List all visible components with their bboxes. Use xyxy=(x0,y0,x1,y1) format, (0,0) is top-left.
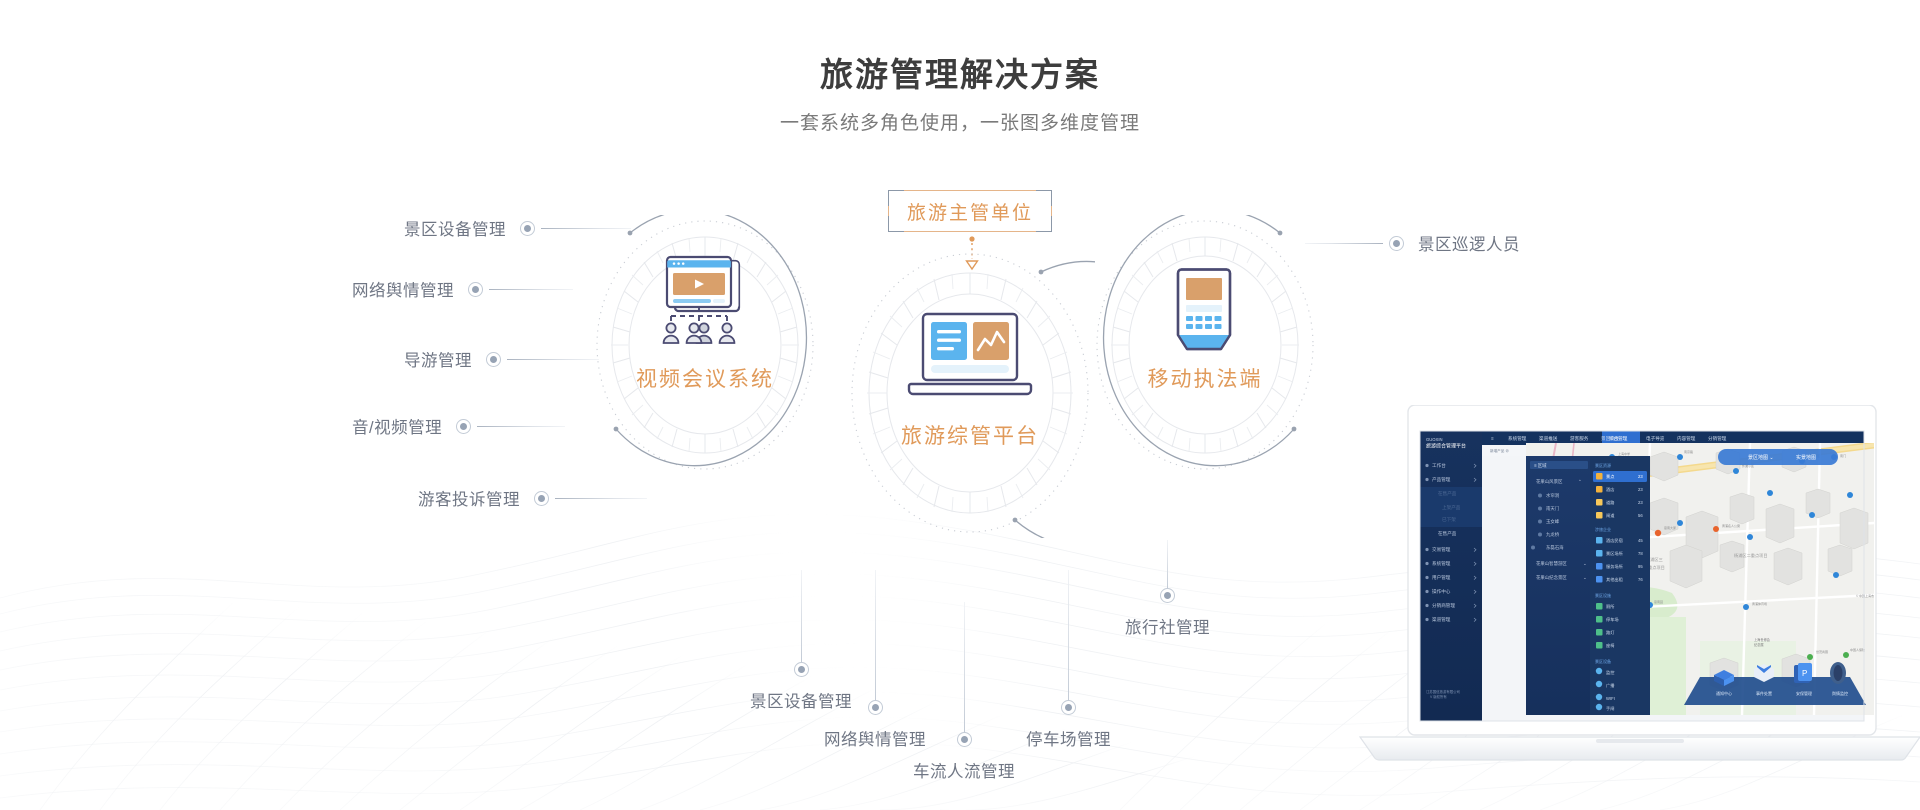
svg-text:旅游综合管理平台: 旅游综合管理平台 xyxy=(1426,443,1466,450)
svg-text:56: 56 xyxy=(1638,513,1643,518)
connector-dot-icon xyxy=(520,221,535,236)
ring-mobile-enforcement[interactable]: 移动执法端 xyxy=(1090,215,1320,475)
svg-text:95: 95 xyxy=(1638,564,1643,569)
box-edge-right xyxy=(1051,206,1052,216)
side-label-left-3[interactable]: 音/视频管理 xyxy=(352,414,565,438)
svg-text:分销管理: 分销管理 xyxy=(1708,435,1727,442)
svg-text:≡ 区域: ≡ 区域 xyxy=(1534,462,1547,468)
box-edge-left xyxy=(888,206,889,216)
svg-text:综合管理: 综合管理 xyxy=(1609,435,1628,442)
svg-text:纪念展: 纪念展 xyxy=(1754,642,1764,647)
page-title: 旅游管理解决方案 xyxy=(0,48,1920,96)
svg-text:手闸: 手闸 xyxy=(1606,705,1614,712)
svg-text:电子导览: 电子导览 xyxy=(1646,435,1665,442)
page-subtitle: 一套系统多角色使用，一张图多维度管理 xyxy=(0,108,1920,135)
svg-text:水帘洞: 水帘洞 xyxy=(1546,492,1560,499)
svg-text:≡: ≡ xyxy=(1491,436,1494,441)
admin-unit-label: 旅游主管单位 xyxy=(907,198,1033,225)
admin-unit-box[interactable]: 旅游主管单位 xyxy=(888,190,1052,232)
connector-dot-icon xyxy=(468,282,483,297)
svg-text:路灯: 路灯 xyxy=(1606,629,1615,636)
box-corner-bottom-right xyxy=(1036,216,1052,232)
svg-text:道路: 道路 xyxy=(1606,499,1615,506)
connector-line xyxy=(875,570,876,700)
svg-text:交易管理: 交易管理 xyxy=(1432,546,1451,553)
svg-text:厕所: 厕所 xyxy=(1606,603,1614,610)
side-label-left-2[interactable]: 导游管理 xyxy=(404,347,599,371)
svg-text:WIFI: WIFI xyxy=(1606,696,1615,701)
svg-text:用户管理: 用户管理 xyxy=(1432,574,1451,581)
svg-text:内容管理: 内容管理 xyxy=(1677,435,1696,442)
svg-text:上海世博会: 上海世博会 xyxy=(1754,637,1771,642)
svg-text:景区场所: 景区场所 xyxy=(1606,550,1623,557)
bottom-label-1[interactable]: 网络舆情管理 xyxy=(824,570,926,750)
box-edge-bottom xyxy=(904,231,1036,232)
svg-text:通知中心: 通知中心 xyxy=(1716,690,1732,696)
bottom-label-3[interactable]: 停车场管理 xyxy=(1026,570,1111,750)
ring-label-tourism-platform: 旅游综管平台 xyxy=(845,420,1095,450)
connector-dot-icon xyxy=(486,352,501,367)
svg-text:花果山纪念景区: 花果山纪念景区 xyxy=(1536,574,1567,581)
svg-text:舆情监控: 舆情监控 xyxy=(1832,690,1848,696)
connector-dot-icon xyxy=(794,662,809,677)
svg-text:V 版权所有: V 版权所有 xyxy=(1430,694,1447,699)
side-label-right-0[interactable]: 景区巡逻人员 xyxy=(1305,231,1520,255)
connector-dot-icon xyxy=(534,491,549,506)
svg-text:45: 45 xyxy=(1638,538,1643,543)
ring-video-conference[interactable]: 视频会议系统 xyxy=(590,215,820,475)
svg-text:上海中学: 上海中学 xyxy=(1618,451,1630,456)
side-label-right-0-text: 景区巡逻人员 xyxy=(1418,231,1520,255)
svg-text:黄浦体育场: 黄浦体育场 xyxy=(1752,601,1767,606)
box-corner-top-right xyxy=(1036,190,1052,206)
svg-text:系统管理: 系统管理 xyxy=(1508,435,1527,442)
ring-label-mobile-enforcement: 移动执法端 xyxy=(1090,363,1320,393)
connector-line xyxy=(1305,243,1383,244)
svg-text:闸道: 闸道 xyxy=(1606,512,1615,519)
svg-text:中国人保险: 中国人保险 xyxy=(1850,647,1865,652)
svg-text:思南大厦: 思南大厦 xyxy=(1664,525,1676,530)
side-label-left-0-text: 景区设备管理 xyxy=(404,216,506,240)
svg-text:安保管理: 安保管理 xyxy=(1796,690,1812,696)
svg-text:P: P xyxy=(1802,669,1807,678)
infographic-stage: 旅游管理解决方案 一套系统多角色使用，一张图多维度管理 旅游主管单位 xyxy=(0,0,1920,810)
svg-text:南天门: 南天门 xyxy=(1546,505,1559,512)
connector-line xyxy=(507,359,599,360)
connector-dot-icon xyxy=(1061,700,1076,715)
svg-text:分销商管理: 分销商管理 xyxy=(1432,602,1455,609)
svg-text:思南园: 思南园 xyxy=(1654,599,1663,604)
svg-text:© 中国上海市: © 中国上海市 xyxy=(1856,593,1874,598)
svg-text:在售产品: 在售产品 xyxy=(1438,530,1457,537)
bottom-label-4[interactable]: 旅行社管理 xyxy=(1125,540,1210,638)
connector-dot-icon xyxy=(1160,588,1175,603)
svg-text:南门: 南门 xyxy=(1840,453,1846,458)
connector-line xyxy=(477,426,565,427)
svg-text:东磊石海: 东磊石海 xyxy=(1546,544,1564,551)
svg-text:新增产品 ⊗: 新增产品 ⊗ xyxy=(1490,448,1509,453)
svg-text:广播: 广播 xyxy=(1606,682,1615,689)
connector-line xyxy=(964,602,965,732)
ring-label-video-conference: 视频会议系统 xyxy=(590,363,820,393)
connector-line xyxy=(541,228,631,229)
svg-text:渠道管理: 渠道管理 xyxy=(1432,616,1451,623)
bottom-label-2[interactable]: 车流人流管理 xyxy=(913,602,1015,782)
connector-dot-icon xyxy=(868,700,883,715)
side-label-left-3-text: 音/视频管理 xyxy=(352,414,442,438)
svg-text:南京路: 南京路 xyxy=(1684,449,1693,454)
mobile-device-icon xyxy=(1166,267,1242,361)
side-label-left-2-text: 导游管理 xyxy=(404,347,472,371)
bottom-label-1-text: 网络舆情管理 xyxy=(824,726,926,750)
svg-text:操作中心: 操作中心 xyxy=(1432,588,1451,595)
box-corner-bottom-left xyxy=(888,216,904,232)
svg-text:工作台: 工作台 xyxy=(1432,462,1446,469)
svg-text:玉女峰: 玉女峰 xyxy=(1546,518,1560,525)
bottom-label-4-text: 旅行社管理 xyxy=(1125,614,1210,638)
connector-line xyxy=(489,289,573,290)
side-label-left-4-text: 游客投诉管理 xyxy=(418,486,520,510)
svg-text:花果山智慧游区: 花果山智慧游区 xyxy=(1536,560,1567,567)
svg-text:座椅: 座椅 xyxy=(1606,642,1614,649)
connector-dot-icon xyxy=(456,419,471,434)
svg-text:江苏国信旅游有限公司: 江苏国信旅游有限公司 xyxy=(1426,689,1460,694)
svg-text:黄浦名人公寓: 黄浦名人公寓 xyxy=(1722,523,1740,528)
svg-text:系统管理: 系统管理 xyxy=(1432,560,1451,567)
svg-text:23: 23 xyxy=(1638,487,1643,492)
bottom-label-2-text: 车流人流管理 xyxy=(913,758,1015,782)
svg-text:78: 78 xyxy=(1638,551,1643,556)
svg-text:游客服务: 游客服务 xyxy=(1570,435,1589,442)
map-badge-right-text: 实景地图 xyxy=(1796,454,1816,461)
svg-text:⌃: ⌃ xyxy=(1578,479,1582,484)
svg-text:⌄: ⌄ xyxy=(1583,575,1587,580)
box-edge-top xyxy=(904,190,1036,191)
side-label-left-1-text: 网络舆情管理 xyxy=(352,277,454,301)
svg-text:23: 23 xyxy=(1638,474,1643,479)
svg-text:杨浦区二重点项目: 杨浦区二重点项目 xyxy=(1734,552,1768,559)
svg-text:事件处置: 事件处置 xyxy=(1756,690,1772,696)
svg-text:重点项目: 重点项目 xyxy=(1648,564,1665,571)
svg-text:76: 76 xyxy=(1638,577,1643,582)
side-label-left-1[interactable]: 网络舆情管理 xyxy=(352,277,573,301)
svg-text:景区资源: 景区资源 xyxy=(1595,462,1611,468)
video-conference-icon xyxy=(645,255,767,351)
svg-text:景区设备: 景区设备 xyxy=(1595,658,1611,664)
laptop-mockup[interactable]: GUOXIN 旅游综合管理平台 工作台产品管理 在售产品上架产品 已下架在售产品… xyxy=(1350,405,1920,805)
connector-dot-icon xyxy=(957,732,972,747)
svg-text:⌄: ⌄ xyxy=(1583,561,1587,566)
svg-text:世茂商圈: 世茂商圈 xyxy=(1816,649,1828,654)
ring-tourism-platform[interactable]: 旅游综管平台 xyxy=(845,248,1095,538)
svg-text:其他出租: 其他出租 xyxy=(1606,576,1623,583)
connector-dot-icon xyxy=(1389,236,1404,251)
svg-text:酒店: 酒店 xyxy=(1606,486,1614,493)
side-label-left-4[interactable]: 游客投诉管理 xyxy=(418,486,647,510)
connector-line xyxy=(1167,540,1168,588)
connector-line xyxy=(555,498,647,499)
svg-text:酒店民宿: 酒店民宿 xyxy=(1606,537,1623,544)
bottom-label-3-text: 停车场管理 xyxy=(1026,726,1111,750)
svg-text:产品管理: 产品管理 xyxy=(1432,476,1451,483)
map-badge-left-text: 景区地图 ⌄ xyxy=(1748,454,1774,461)
svg-text:花果山风景区: 花果山风景区 xyxy=(1536,478,1563,485)
svg-text:渠道推送: 渠道推送 xyxy=(1539,435,1558,442)
side-label-left-0[interactable]: 景区设备管理 xyxy=(404,216,631,240)
connector-line xyxy=(801,570,802,662)
connector-line xyxy=(1068,570,1069,700)
svg-text:23: 23 xyxy=(1638,500,1643,505)
svg-text:监控: 监控 xyxy=(1606,669,1615,676)
laptop-dashboard-icon xyxy=(903,310,1037,402)
svg-text:景区设施: 景区设施 xyxy=(1595,592,1611,598)
svg-text:GUOXIN: GUOXIN xyxy=(1426,437,1443,442)
box-corner-top-left xyxy=(888,190,904,206)
svg-text:九龙桥: 九龙桥 xyxy=(1546,531,1560,538)
svg-text:涉旅企业: 涉旅企业 xyxy=(1595,526,1611,532)
svg-text:停车场: 停车场 xyxy=(1606,616,1619,623)
svg-text:服务场所: 服务场所 xyxy=(1606,563,1623,570)
